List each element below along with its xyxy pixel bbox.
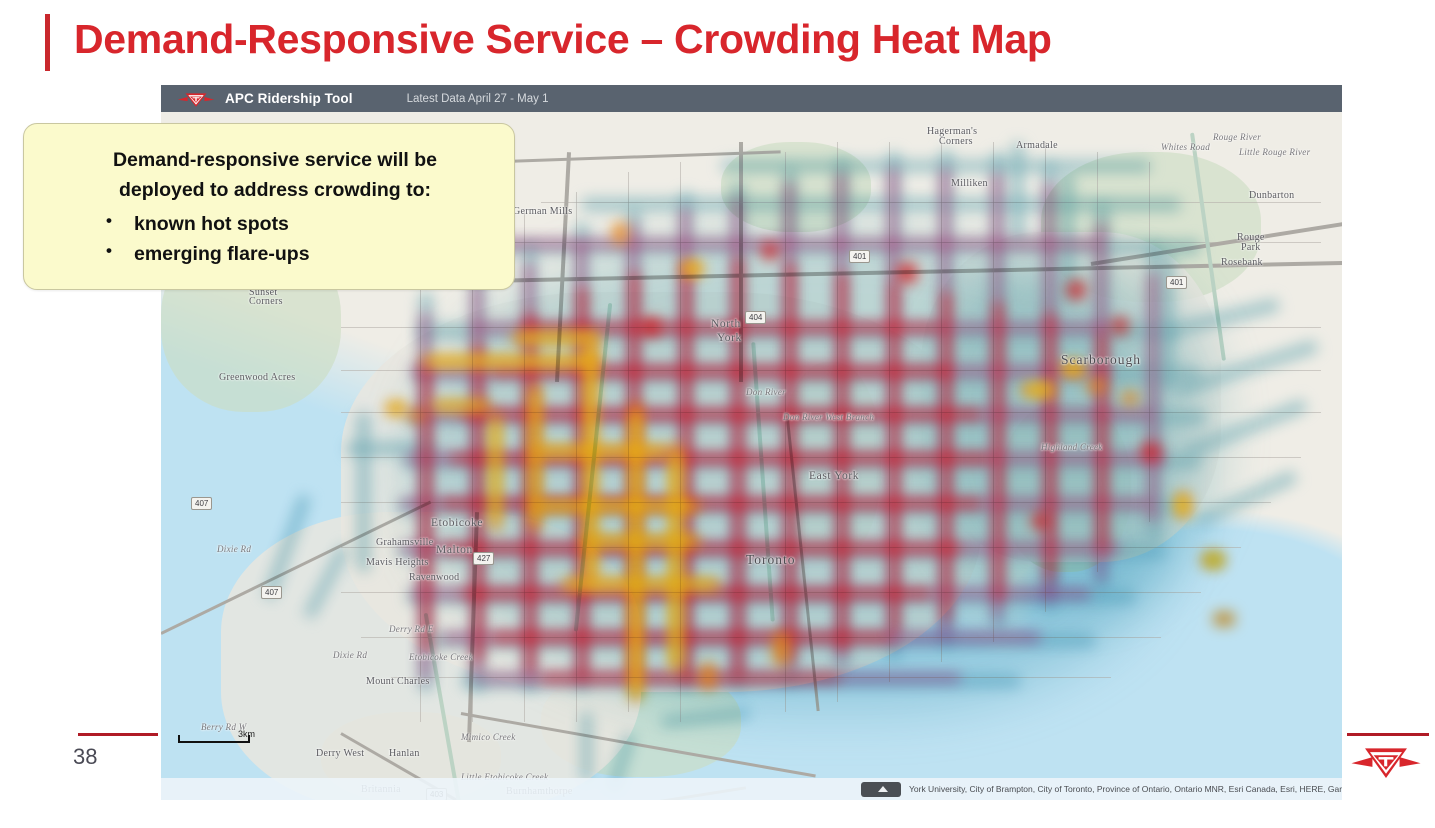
latest-data-label: Latest Data April 27 - May 1 <box>407 93 549 105</box>
arterial-road <box>941 142 942 662</box>
green-area <box>721 142 871 232</box>
highway-404 <box>739 142 743 382</box>
arterial-road <box>341 547 1241 548</box>
callout-line-2: deployed to address crowding to: <box>62 176 488 206</box>
arterial-road <box>541 202 1321 203</box>
arterial-road <box>628 172 629 712</box>
callout-bullet-item: known hot spots <box>62 209 488 239</box>
callout-line-1: Demand-responsive service will be <box>62 146 488 176</box>
footer-rule <box>78 733 158 736</box>
map-caption: map shows occurrences of more than 15 cu… <box>981 798 1342 800</box>
urban-area <box>921 232 1221 562</box>
title-accent-bar <box>45 14 50 71</box>
map-attribution-text: York University, City of Brampton, City … <box>909 784 1342 794</box>
app-header: APC Ridership Tool Latest Data April 27 … <box>161 85 1342 112</box>
ttc-logo-icon <box>1349 742 1423 782</box>
app-title: APC Ridership Tool <box>225 91 353 106</box>
callout-box: Demand-responsive service will be deploy… <box>23 123 515 290</box>
arterial-road <box>341 457 1301 458</box>
arterial-road <box>391 677 1111 678</box>
arterial-road <box>461 242 1321 243</box>
arterial-road <box>341 412 1321 413</box>
arterial-road <box>576 192 577 722</box>
arterial-road <box>1045 142 1046 612</box>
page-number: 38 <box>73 744 97 770</box>
scale-bar-label: 3km <box>238 729 255 739</box>
arterial-road <box>524 212 525 722</box>
arterial-road <box>680 162 681 722</box>
arterial-road <box>837 142 838 702</box>
scale-bar-line <box>178 741 250 743</box>
callout-bullet-item: emerging flare-ups <box>62 239 488 269</box>
arterial-road <box>889 142 890 682</box>
page-title: Demand-Responsive Service – Crowding Hea… <box>74 16 1052 63</box>
arterial-road <box>341 327 1321 328</box>
arterial-road <box>1097 152 1098 572</box>
arterial-road <box>341 502 1271 503</box>
arterial-road <box>341 370 1321 371</box>
arterial-road <box>785 152 786 712</box>
arterial-road <box>472 222 473 722</box>
map-caption-line-1: map shows occurrences of <box>981 798 1342 800</box>
arterial-road <box>1149 162 1150 522</box>
arterial-road <box>993 142 994 642</box>
map-attribution-bar: York University, City of Brampton, City … <box>161 778 1342 800</box>
arterial-road <box>420 222 421 722</box>
footer-logo-rule <box>1347 733 1429 736</box>
basemap-gallery-icon[interactable] <box>861 782 901 797</box>
callout-bullet-list: known hot spots emerging flare-ups <box>62 209 488 269</box>
ttc-logo-icon <box>175 89 217 109</box>
arterial-road <box>361 637 1161 638</box>
scale-bar: 3km <box>178 740 250 743</box>
